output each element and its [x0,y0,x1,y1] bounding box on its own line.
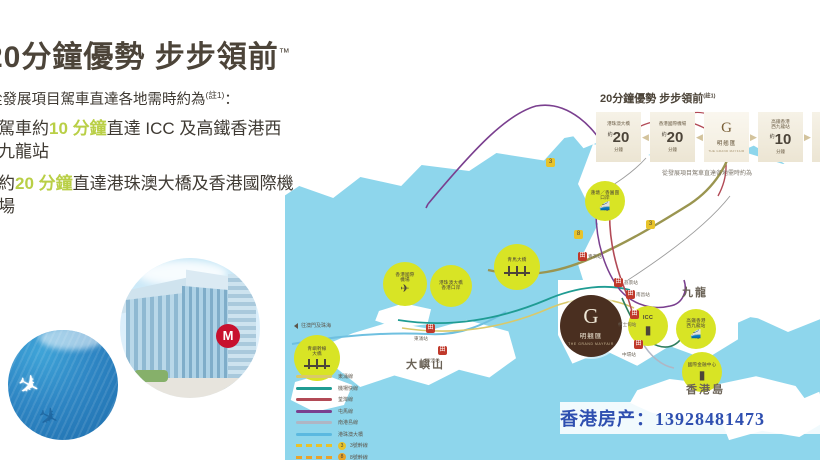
poi-label: 青馬大橋 [507,258,526,263]
poi-label: ICC [643,316,653,322]
legend-label: 南港島線 [338,419,358,426]
highway-marker[interactable]: 8 [574,230,583,239]
bullet-2-value: 20 分鐘 [15,174,73,193]
trademark-symbol: ™ [279,47,291,59]
map-brand-marker[interactable]: G 明翹匯 THE GRAND MAYFAIR [560,295,622,357]
legend-label: 機場快線 [338,385,358,392]
journey-destination: 高鐵香港 西九龍站 [771,119,789,130]
station-label: 青衣站 [588,254,602,260]
poi-tsing-ma-bridge[interactable]: 青馬大橋 [494,244,540,290]
train-icon: 🚄 [599,202,610,211]
legend-item: 東涌線 [296,372,416,381]
region-label-hong-kong-island: 香港島 [686,381,725,397]
timeline-footnote: (註1) [703,93,715,99]
legend-item: 荃灣線 [296,395,416,404]
duration-unit: 分鐘 [668,147,677,153]
tower-icon: ▮ [645,324,652,336]
arrow-left-icon-2: ◀ [695,112,704,162]
highway-marker[interactable]: 3 [646,220,655,229]
watermark-banner: 香港房产：13928481473 [560,402,820,434]
arrow-right-icon-2: ▶ [803,112,812,162]
station-pin[interactable]: 田 [634,340,643,349]
journey-duration: 約10 [770,132,792,147]
poi-liantang-boundary[interactable]: 蓮塘／香園圍 口岸 🚄 [585,181,625,221]
legend-item: 8 8號幹線 [296,453,416,460]
poi-west-kowloon-station[interactable]: 高鐵香港 西九龍站 🚄 [676,309,716,349]
poi-label: 蓮塘／香園圍 口岸 [591,191,620,201]
legend-item: 屯馬線 [296,407,416,416]
tower-icon: ▮ [699,369,706,381]
page-title: 20分鐘優勢 步步領前™ [0,32,286,76]
station-label: 荔景站 [624,280,638,286]
timeline-footer-note: 從發展項目駕車直達各地需時約為 [662,168,752,177]
journey-card-row: 港珠澳大橋 約20 分鐘 ◀ 香港國際機場 約20 分鐘 ◀ G 明翹匯 THE… [596,112,820,162]
journey-card-west-kowloon[interactable]: 高鐵香港 西九龍站 約10 分鐘 [758,112,803,162]
arrow-left-icon-1: ◀ [641,112,650,162]
ferry-direction-note: 往澳門及珠海 [294,322,331,329]
journey-card-airport[interactable]: 香港國際機場 約20 分鐘 [650,112,695,162]
arrow-right-icon-1: ▶ [749,112,758,162]
legend-item: 港珠澳大橋 [296,430,416,439]
station-pin[interactable]: 田 [578,252,587,261]
bullet-1-pre: 駕車約 [0,119,49,138]
arrow-left-icon [294,323,298,329]
station-label: 南昌站 [636,292,650,298]
journey-destination: 港珠澳大橋 [607,121,630,126]
bullet-item-1: 駕車約10 分鐘直達 ICC 及高鐵香港西九龍站 [0,117,298,163]
legend-swatch [296,421,332,424]
journey-card-hzmb[interactable]: 港珠澳大橋 約20 分鐘 [596,112,641,162]
poi-hk-international-airport[interactable]: 香港國際 機場 ✈ [383,262,427,306]
train-icon: 🚄 [690,330,701,339]
station-pin[interactable]: 田 [438,346,447,355]
duration-unit: 分鐘 [776,149,785,155]
intro-line: 從發展項目駕車直達各地需時約為(註1)： [0,88,288,109]
timeline-title-text: 20分鐘優勢 步步領前 [600,93,703,105]
poi-hzmb-hk-port[interactable]: 港珠澳大橋 香港口岸 [430,265,472,307]
duration-value: 20 [613,129,630,146]
journey-destination: 香港國際機場 [659,121,687,126]
journey-card-origin[interactable]: G 明翹匯 THE GRAND MAYFAIR [704,112,749,162]
station-pin[interactable]: 田 [630,310,639,319]
brand-name-cn: 明翹匯 [717,139,736,147]
legend-swatch [296,433,332,436]
journey-duration: 約20 [662,130,684,145]
poi-label: 香港國際 機場 [395,273,414,283]
legend-swatch [296,410,332,413]
photo-west-kowloon-station: M [120,258,260,398]
timeline-title: 20分鐘優勢 步步領前(註1) [600,90,716,106]
legend-swatch [296,398,332,401]
legend-label: 3號幹線 [350,442,368,449]
bridge-icon [304,359,330,369]
duration-value: 20 [667,129,684,146]
poi-label: 港珠澳大橋 香港口岸 [439,281,463,291]
legend-item: 南港島線 [296,418,416,427]
legend-item: 3 3號幹線 [296,441,416,450]
legend-label: 8號幹線 [350,454,368,460]
mtr-logo-icon: M [216,324,240,348]
watermark-text: 香港房产：13928481473 [560,405,765,431]
legend-swatch [296,387,332,390]
journey-time-panel: 20分鐘優勢 步步領前(註1) 港珠澳大橋 約20 分鐘 ◀ 香港國際機場 約2… [588,90,820,180]
bridge-icon [504,266,530,276]
intro-colon: ： [224,92,239,108]
poi-label: 國際金融中心 [688,363,717,368]
station-label: 中環站 [622,352,636,358]
brand-monogram-icon: G [583,306,598,327]
poi-label: 高鐵香港 西九龍站 [686,319,705,329]
station-label: 東涌站 [414,336,428,342]
duration-value: 10 [775,131,792,148]
station-label: 柯士甸站 [618,322,636,328]
bullet-1-value: 10 分鐘 [49,119,107,138]
legend-label: 港珠澳大橋 [338,431,363,438]
highway-badge-3: 3 [338,442,346,450]
bullet-2-pre: 約 [0,174,15,193]
left-text-panel: 20分鐘優勢 步步領前™ 從發展項目駕車直達各地需時約為(註1)： 駕車約10 … [0,0,285,460]
legend-label: 屯馬線 [338,408,353,415]
brand-monogram-icon: G [721,121,732,136]
station-pin[interactable]: 田 [426,324,435,333]
page-title-text: 20分鐘優勢 步步領前 [0,41,279,74]
journey-duration: 約20 [608,130,630,145]
legend-label: 東涌線 [338,373,353,380]
legend-label: 荃灣線 [338,396,353,403]
photo-airplane-over-sea: ✈ ✈ [8,330,118,440]
highway-badge-8: 8 [338,453,346,460]
map-legend: 東涌線 機場快線 荃灣線 屯馬線 南港島線 港珠澳大橋 [296,372,416,460]
airplane-icon: ✈ [400,284,409,295]
legend-item: 機場快線 [296,384,416,393]
legend-swatch [296,375,332,378]
legend-swatch-dashed [296,456,332,459]
landscaping-shrub [134,370,168,382]
slide-canvas: 20分鐘優勢 步步領前™ 從發展項目駕車直達各地需時約為(註1)： 駕車約10 … [0,0,820,460]
station-pin[interactable]: 田 [626,290,635,299]
journey-card-ifc[interactable]: 國際金融 中心 約15 分鐘 [812,112,820,162]
poi-label: 青嶼幹線 大橋 [307,347,326,357]
brand-name-en: THE GRAND MAYFAIR [568,342,614,346]
intro-footnote: (註1) [206,90,225,100]
highway-marker[interactable]: 3 [546,158,555,167]
station-pin[interactable]: 田 [614,278,623,287]
intro-text: 從發展項目駕車直達各地需時約為 [0,92,206,108]
brand-name-cn: 明翹匯 [580,330,603,340]
brand-name-en: THE GRAND MAYFAIR [708,149,744,153]
duration-unit: 分鐘 [614,147,623,153]
region-label-kowloon: 九龍 [682,284,708,300]
bullet-item-2: 約20 分鐘直達港珠澳大橋及香港國際機場 [0,172,298,218]
station-label: 欣澳站 [426,358,440,364]
ferry-note-text: 往澳門及珠海 [301,323,331,329]
legend-swatch-dashed [296,444,332,447]
